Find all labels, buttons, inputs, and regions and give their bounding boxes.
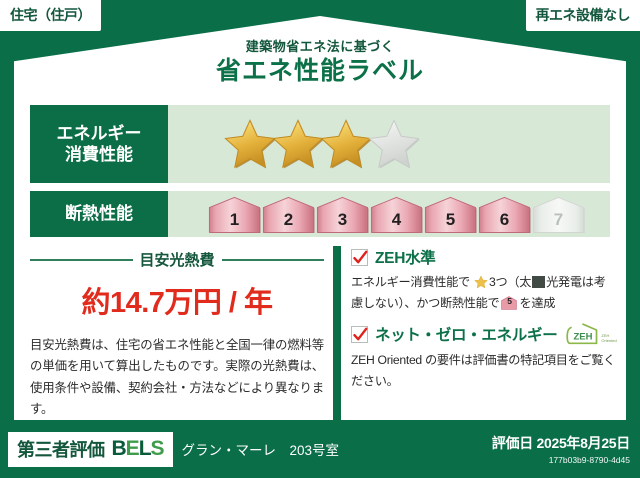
insulation-performance-value: 1234567 [168, 191, 610, 237]
zeh-net-zero-header: ネット・ゼロ・エネルギー ZEH ZEH Oriented [351, 322, 617, 346]
energy-performance-row: エネルギー 消費性能 [30, 105, 610, 183]
zeh-net-zero-block: ネット・ゼロ・エネルギー ZEH ZEH Oriented [351, 322, 617, 391]
zeh-column: ZEH水準 エネルギー消費性能で 3つ（太光発電は考慮しない）、かつ断熱性能で … [350, 246, 617, 424]
label-title-group: 建築物省エネ法に基づく 省エネ性能ラベル [0, 40, 640, 86]
heading-rule-right [222, 259, 325, 261]
building-name: グラン・マーレ 203号室 [182, 439, 340, 459]
insulation-level-number: 2 [284, 210, 293, 233]
check-icon [353, 250, 368, 266]
insulation-level-number: 6 [500, 210, 509, 233]
label-body-panel: エネルギー 消費性能 断熱性能 1234567 目安光熱費 [14, 94, 626, 420]
star-icon-filled [272, 118, 324, 170]
zeh-desc-part1: エネルギー消費性能で [351, 275, 470, 289]
insulation-level-badge: 5 [501, 296, 517, 310]
insulation-level-number: 5 [446, 210, 455, 233]
heading-rule-left [30, 259, 133, 261]
energy-cost-amount: 約14.7万円 / 年 [30, 279, 324, 321]
zeh-standard-header: ZEH水準 [351, 246, 617, 268]
insulation-level-scale: 1234567 [208, 195, 586, 233]
footer-meta: 評価日 2025年8月25日 177b03b9-8790-4d45 [492, 433, 630, 465]
bels-logo: BELS [112, 437, 164, 461]
energy-cost-heading: 目安光熱費 [30, 249, 324, 270]
energy-performance-value [168, 105, 610, 183]
star-icon-inline [474, 275, 488, 289]
evaluation-date: 評価日 2025年8月25日 [492, 433, 630, 453]
energy-label-line2: 消費性能 [65, 144, 133, 165]
redacted-character [532, 276, 545, 288]
evaluation-id: 177b03b9-8790-4d45 [492, 455, 630, 465]
insulation-house-active: 5 [424, 195, 477, 233]
bels-letter-l: L [139, 437, 151, 460]
label-footer: 第三者評価 BELS グラン・マーレ 203号室 評価日 2025年8月25日 … [0, 420, 640, 478]
tag-renewable-energy: 再エネ設備なし [526, 0, 640, 31]
energy-cost-heading-text: 目安光熱費 [140, 249, 215, 270]
zeh-net-zero-title: ネット・ゼロ・エネルギー [375, 323, 557, 345]
zeh-desc-stars: 3つ（太 [489, 275, 531, 289]
page-title: 省エネ性能ラベル [0, 57, 640, 86]
third-party-eval-label: 第三者評価 [17, 436, 105, 462]
zeh-standard-checkbox[interactable] [351, 249, 368, 266]
insulation-performance-row: 断熱性能 1234567 [30, 191, 610, 237]
insulation-level-number: 3 [338, 210, 347, 233]
insulation-performance-label: 断熱性能 [30, 191, 168, 237]
zeh-house-logo-icon: ZEH [566, 322, 600, 346]
star-icon-filled [224, 118, 276, 170]
insulation-house-active: 2 [262, 195, 315, 233]
energy-performance-label: エネルギー 消費性能 [30, 105, 168, 183]
insulation-level-badge-number: 5 [501, 296, 517, 310]
insulation-house-active: 1 [208, 195, 261, 233]
star-icon-empty [368, 118, 420, 170]
insulation-label-text: 断熱性能 [65, 203, 133, 224]
zeh-logo-sub-line2: Oriented [601, 338, 616, 343]
label-subtitle: 建築物省エネ法に基づく [0, 40, 640, 54]
zeh-standard-block: ZEH水準 エネルギー消費性能で 3つ（太光発電は考慮しない）、かつ断熱性能で … [351, 246, 617, 313]
star-icon-filled [320, 118, 372, 170]
zeh-desc-part3: を達成 [519, 296, 555, 310]
star-rating [224, 118, 416, 170]
insulation-level-number: 7 [554, 210, 563, 233]
svg-text:ZEH: ZEH [574, 331, 593, 342]
insulation-house-active: 4 [370, 195, 423, 233]
insulation-house-active: 3 [316, 195, 369, 233]
insulation-level-number: 1 [230, 210, 239, 233]
bels-badge: 第三者評価 BELS [8, 432, 173, 467]
zeh-net-zero-checkbox[interactable] [351, 326, 368, 343]
insulation-house-active: 6 [478, 195, 531, 233]
energy-performance-label: 住宅（住戸） 再エネ設備なし 建築物省エネ法に基づく 省エネ性能ラベル エネルギ… [0, 0, 640, 478]
tag-building-type: 住宅（住戸） [0, 0, 101, 31]
insulation-house-inactive: 7 [532, 195, 585, 233]
lower-content-area: 目安光熱費 約14.7万円 / 年 目安光熱費は、住宅の省エネ性能と全国一律の燃… [30, 246, 610, 424]
zeh-standard-title: ZEH水準 [375, 246, 436, 268]
energy-cost-note: 目安光熱費は、住宅の省エネ性能と全国一律の燃料等の単価を用いて算出したものです。… [30, 335, 324, 420]
insulation-level-number: 4 [392, 210, 401, 233]
bels-letter-e: E [126, 437, 139, 460]
zeh-logo-subtext: ZEH Oriented [601, 334, 616, 346]
energy-label-line1: エネルギー [57, 123, 142, 144]
check-icon [353, 327, 368, 343]
zeh-net-zero-description: ZEH Oriented の要件は評価書の特記項目をご覧ください。 [351, 350, 617, 391]
energy-cost-column: 目安光熱費 約14.7万円 / 年 目安光熱費は、住宅の省エネ性能と全国一律の燃… [30, 246, 330, 424]
bels-letter-b: B [112, 437, 126, 460]
zeh-logo: ZEH ZEH Oriented [566, 322, 616, 346]
bels-letter-s: S [151, 437, 164, 460]
zeh-standard-description: エネルギー消費性能で 3つ（太光発電は考慮しない）、かつ断熱性能で 5 を達成 [351, 272, 617, 313]
column-divider [333, 246, 341, 424]
